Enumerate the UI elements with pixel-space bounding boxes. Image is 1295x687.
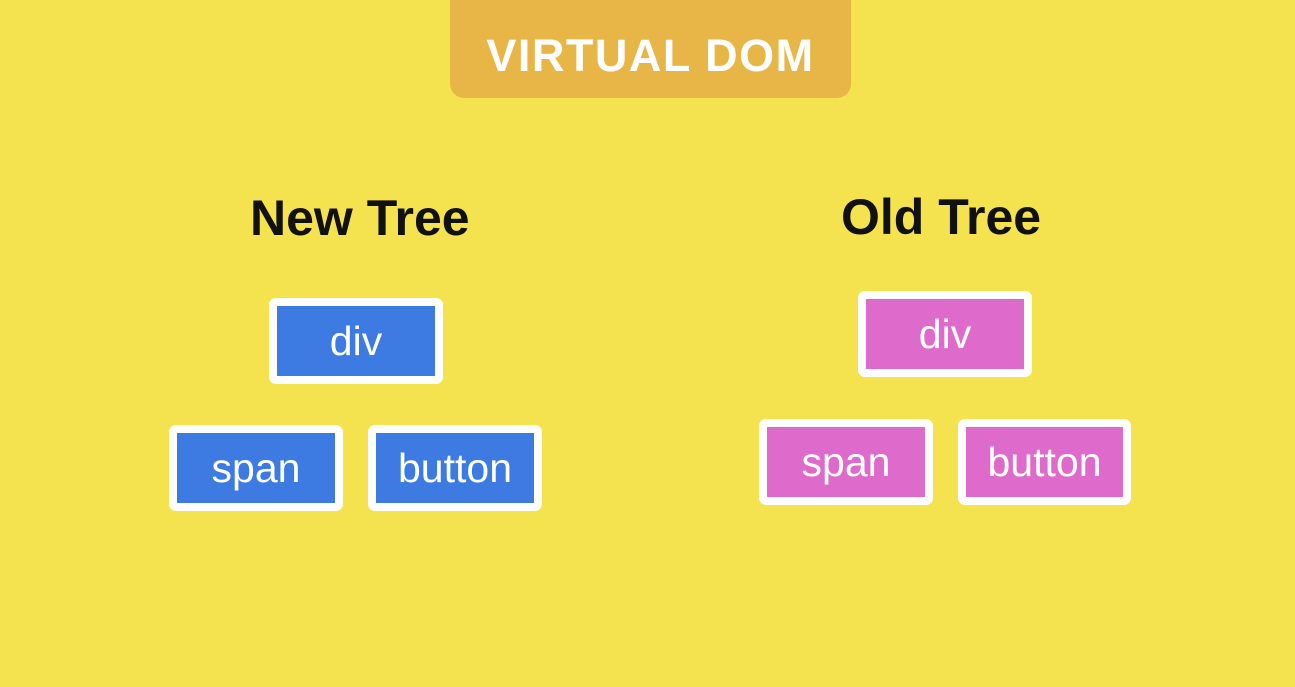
banner-title: VIRTUAL DOM (486, 33, 814, 78)
old-tree-node-span-fill: span (767, 427, 925, 497)
new-tree-node-button: button (368, 425, 542, 511)
new-tree-node-span: span (169, 425, 343, 511)
old-tree-node-button-fill: button (966, 427, 1123, 497)
old-tree-node-button: button (958, 419, 1131, 505)
old-tree-node-div-label: div (919, 314, 971, 355)
new-tree-node-span-fill: span (177, 433, 335, 503)
old-tree-node-button-label: button (988, 442, 1102, 483)
old-tree-node-span-label: span (802, 442, 891, 483)
new-tree-heading: New Tree (250, 193, 470, 243)
new-tree-node-button-fill: button (376, 433, 534, 503)
new-tree-node-div: div (269, 298, 443, 384)
new-tree-node-button-label: button (398, 448, 512, 489)
old-tree-node-div: div (858, 291, 1032, 377)
old-tree-heading: Old Tree (841, 192, 1041, 242)
old-tree-node-span: span (759, 419, 933, 505)
title-banner: VIRTUAL DOM (450, 0, 851, 98)
new-tree-node-div-fill: div (277, 306, 435, 376)
old-tree-node-div-fill: div (866, 299, 1024, 369)
new-tree-node-div-label: div (330, 321, 382, 362)
new-tree-node-span-label: span (212, 448, 301, 489)
slide-canvas: VIRTUAL DOM New Tree div span button Old… (0, 0, 1295, 687)
